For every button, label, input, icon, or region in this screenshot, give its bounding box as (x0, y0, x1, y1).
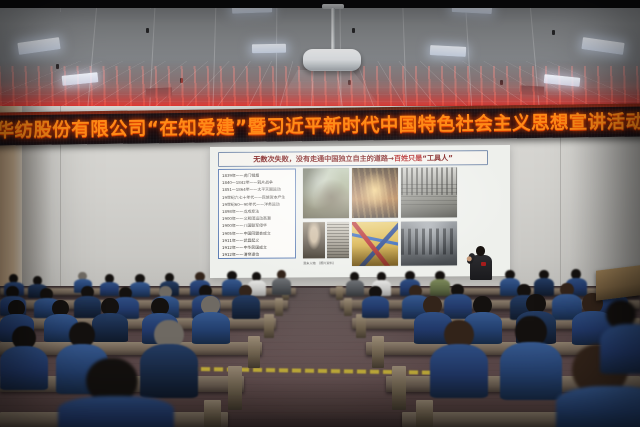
presenter-badge-icon (481, 262, 486, 266)
desk-end-panel (204, 400, 221, 427)
desk-end-panel (344, 298, 352, 316)
slide-timeline-list: 1839年——虎门销烟 1840—1842年——鸦片战争 1851—1864年—… (218, 168, 296, 259)
list-item: 19世纪六七十年代——民族资本产生 (222, 193, 292, 201)
sprinkler-icon (352, 28, 355, 33)
audience-member (0, 326, 48, 388)
ceiling-light-panel (430, 45, 466, 57)
slide-image-taiping-rebellion (352, 168, 398, 218)
presenter-hand (466, 256, 473, 263)
projector-icon (303, 49, 361, 71)
desk-end-panel (336, 286, 343, 300)
sprinkler-icon (146, 28, 149, 33)
audience-member (430, 320, 488, 396)
audience-member (600, 300, 640, 370)
audience-member (500, 316, 562, 398)
audience-member (58, 358, 174, 427)
audience-member (232, 285, 260, 317)
projector-mount-pole (331, 8, 335, 52)
slide-image-revolutionaries-group (401, 221, 457, 265)
presenter-head (476, 246, 485, 256)
audience-member (362, 286, 389, 316)
desk-end-panel (248, 336, 260, 368)
slide-image-eight-nation-alliance (401, 167, 457, 217)
projection-screen: 无数次失败，没有走通中国独立自主的道路→百姓只是“工具人” 1839年——虎门销… (210, 145, 510, 278)
conference-hall-photo: 华纺股份有限公司“在知爱建”暨习近平新时代中国特色社会主义思想宣讲活动 无数次失… (0, 0, 640, 427)
desk-end-panel (264, 314, 274, 338)
slide-image-tongmenghui-flag (352, 222, 398, 266)
desk-end-panel (228, 366, 242, 410)
audience-member (272, 270, 291, 293)
top-edge-shadow (0, 0, 640, 8)
desk-end-panel (372, 336, 384, 368)
slide-title-quote: “工具人” (422, 153, 453, 162)
slide-image-caption: 清末人物 （照片资料） (303, 260, 336, 265)
slide-image-opium-war (303, 168, 349, 218)
slide-image-portrait (303, 222, 325, 258)
slide-title: 无数次失败，没有走通中国独立自主的道路→百姓只是“工具人” (218, 150, 488, 167)
slide-image-document (327, 222, 349, 258)
presenter (468, 246, 494, 280)
sprinkler-icon (552, 30, 555, 35)
desk-end-panel (392, 366, 406, 410)
list-item: 1912年——清帝退位 (222, 251, 292, 259)
slide-title-highlight: 百姓只是 (394, 153, 422, 162)
ceiling-light-panel (252, 44, 286, 54)
desk-end-panel (275, 298, 283, 316)
desk-end-panel (416, 400, 433, 427)
podium (596, 265, 640, 300)
slide-title-plain: 无数次失败，没有走通中国独立自主的道路→ (253, 153, 394, 163)
